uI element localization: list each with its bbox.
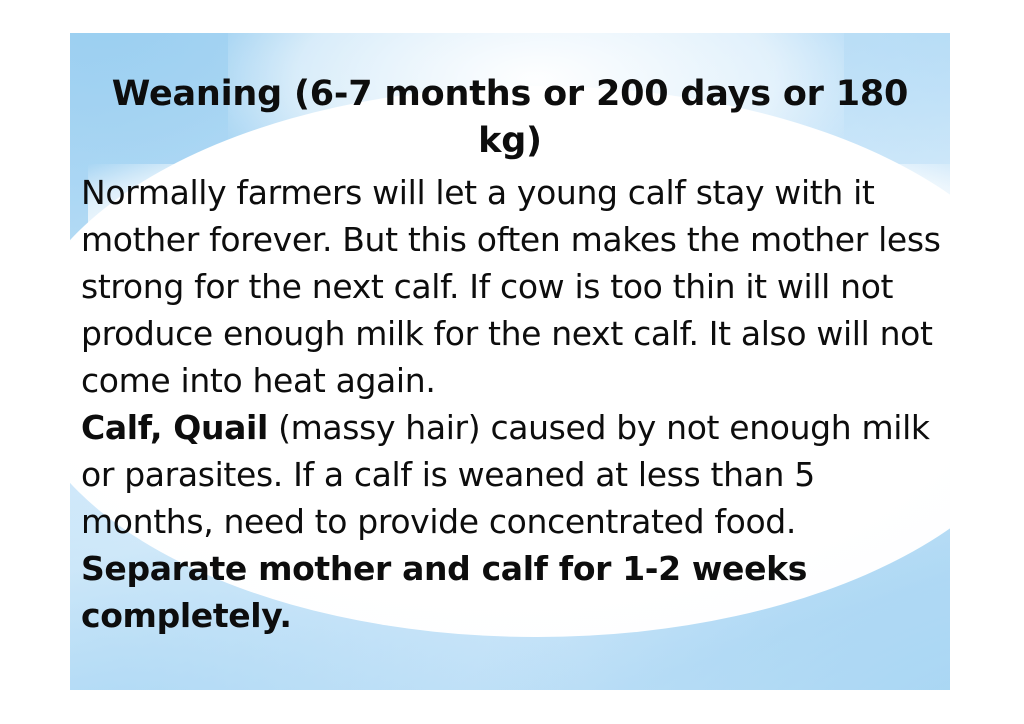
paragraph-calf-quail: Calf, Quail (massy hair) caused by not e… — [81, 404, 943, 545]
slide-canvas: Weaning (6-7 months or 200 days or 180 k… — [70, 33, 950, 690]
paragraph-calf-quail-lead: Calf, Quail — [81, 408, 268, 447]
paragraph-separate: Separate mother and calf for 1-2 weeks c… — [81, 545, 943, 639]
paragraph-separate-text: Separate mother and calf for 1-2 weeks c… — [81, 549, 807, 635]
slide-title: Weaning (6-7 months or 200 days or 180 k… — [82, 71, 938, 165]
page-root: Weaning (6-7 months or 200 days or 180 k… — [0, 0, 1024, 724]
slide-body: Normally farmers will let a young calf s… — [81, 169, 943, 639]
slide-content: Weaning (6-7 months or 200 days or 180 k… — [70, 33, 950, 690]
paragraph-normally: Normally farmers will let a young calf s… — [81, 169, 943, 404]
paragraph-normally-text: Normally farmers will let a young calf s… — [81, 173, 941, 400]
